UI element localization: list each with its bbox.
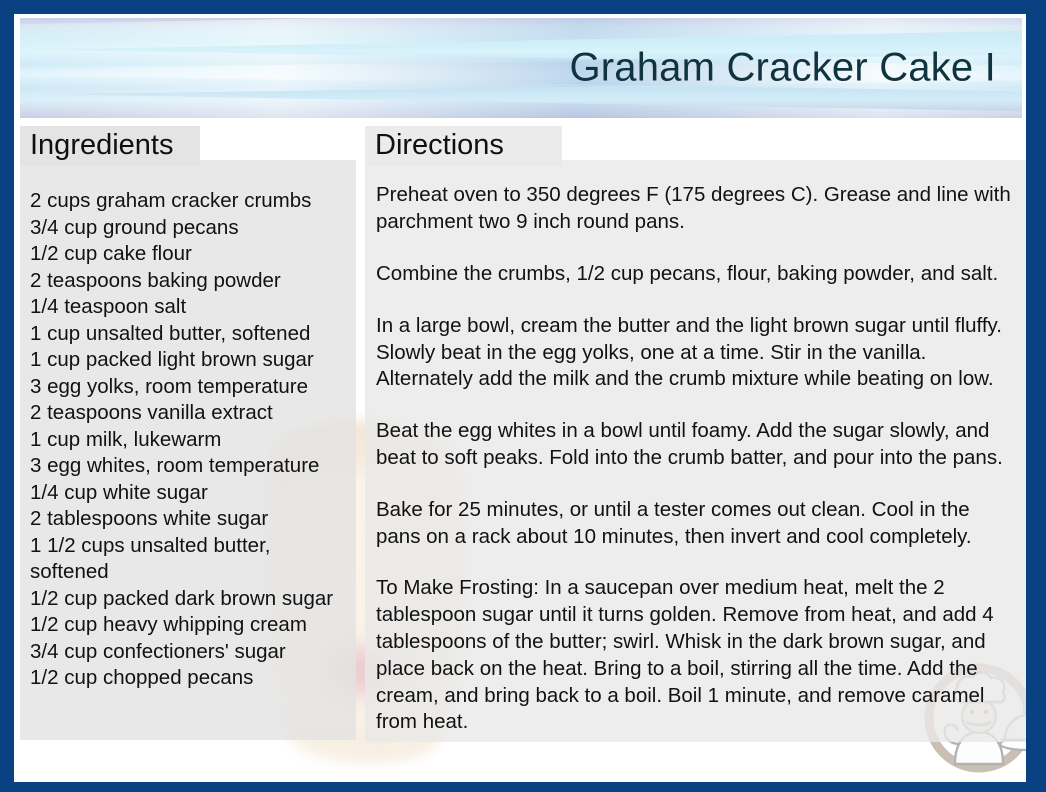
recipe-columns: Ingredients 2 cups graham cracker crumbs… [20, 126, 1026, 782]
direction-step: To Make Frosting: In a saucepan over med… [376, 575, 1012, 736]
list-item: 1 cup unsalted butter, softened [30, 321, 350, 348]
list-item: 2 cups graham cracker crumbs [30, 188, 350, 215]
directions-heading: Directions [365, 126, 562, 166]
list-item: 2 teaspoons baking powder [30, 268, 350, 295]
title-banner: Graham Cracker Cake I [20, 18, 1022, 118]
list-item: 1/2 cup packed dark brown sugar [30, 586, 350, 613]
list-item: 1 cup packed light brown sugar [30, 347, 350, 374]
recipe-card: Graham Cracker Cake I [0, 0, 1046, 792]
directions-column: Directions Preheat oven to 350 degrees F… [365, 126, 1026, 742]
list-item: 3 egg yolks, room temperature [30, 374, 350, 401]
page-surface: Graham Cracker Cake I [14, 14, 1026, 782]
banner-wave-decoration [20, 92, 1022, 118]
list-item: 1/2 cup chopped pecans [30, 665, 350, 692]
directions-list: Preheat oven to 350 degrees F (175 degre… [365, 160, 1026, 742]
list-item: 3/4 cup confectioners' sugar [30, 639, 350, 666]
list-item: 1 cup milk, lukewarm [30, 427, 350, 454]
direction-step: Preheat oven to 350 degrees F (175 degre… [376, 182, 1012, 236]
list-item: 3 egg whites, room temperature [30, 453, 350, 480]
ingredients-heading: Ingredients [20, 126, 200, 166]
direction-step: Combine the crumbs, 1/2 cup pecans, flou… [376, 261, 1012, 288]
list-item: 2 tablespoons white sugar [30, 506, 350, 533]
list-item: 1/4 cup white sugar [30, 480, 350, 507]
list-item: 1/4 teaspoon salt [30, 294, 350, 321]
direction-step: Bake for 25 minutes, or until a tester c… [376, 497, 1012, 551]
ingredients-column: Ingredients 2 cups graham cracker crumbs… [20, 126, 356, 740]
direction-step: Beat the egg whites in a bowl until foam… [376, 418, 1012, 472]
ingredients-list: 2 cups graham cracker crumbs 3/4 cup gro… [20, 160, 356, 740]
list-item: 1/2 cup cake flour [30, 241, 350, 268]
list-item: 1 1/2 cups unsalted butter, softened [30, 533, 350, 586]
page-title: Graham Cracker Cake I [569, 46, 996, 91]
list-item: 3/4 cup ground pecans [30, 215, 350, 242]
list-item: 2 teaspoons vanilla extract [30, 400, 350, 427]
direction-step: In a large bowl, cream the butter and th… [376, 313, 1012, 393]
list-item: 1/2 cup heavy whipping cream [30, 612, 350, 639]
